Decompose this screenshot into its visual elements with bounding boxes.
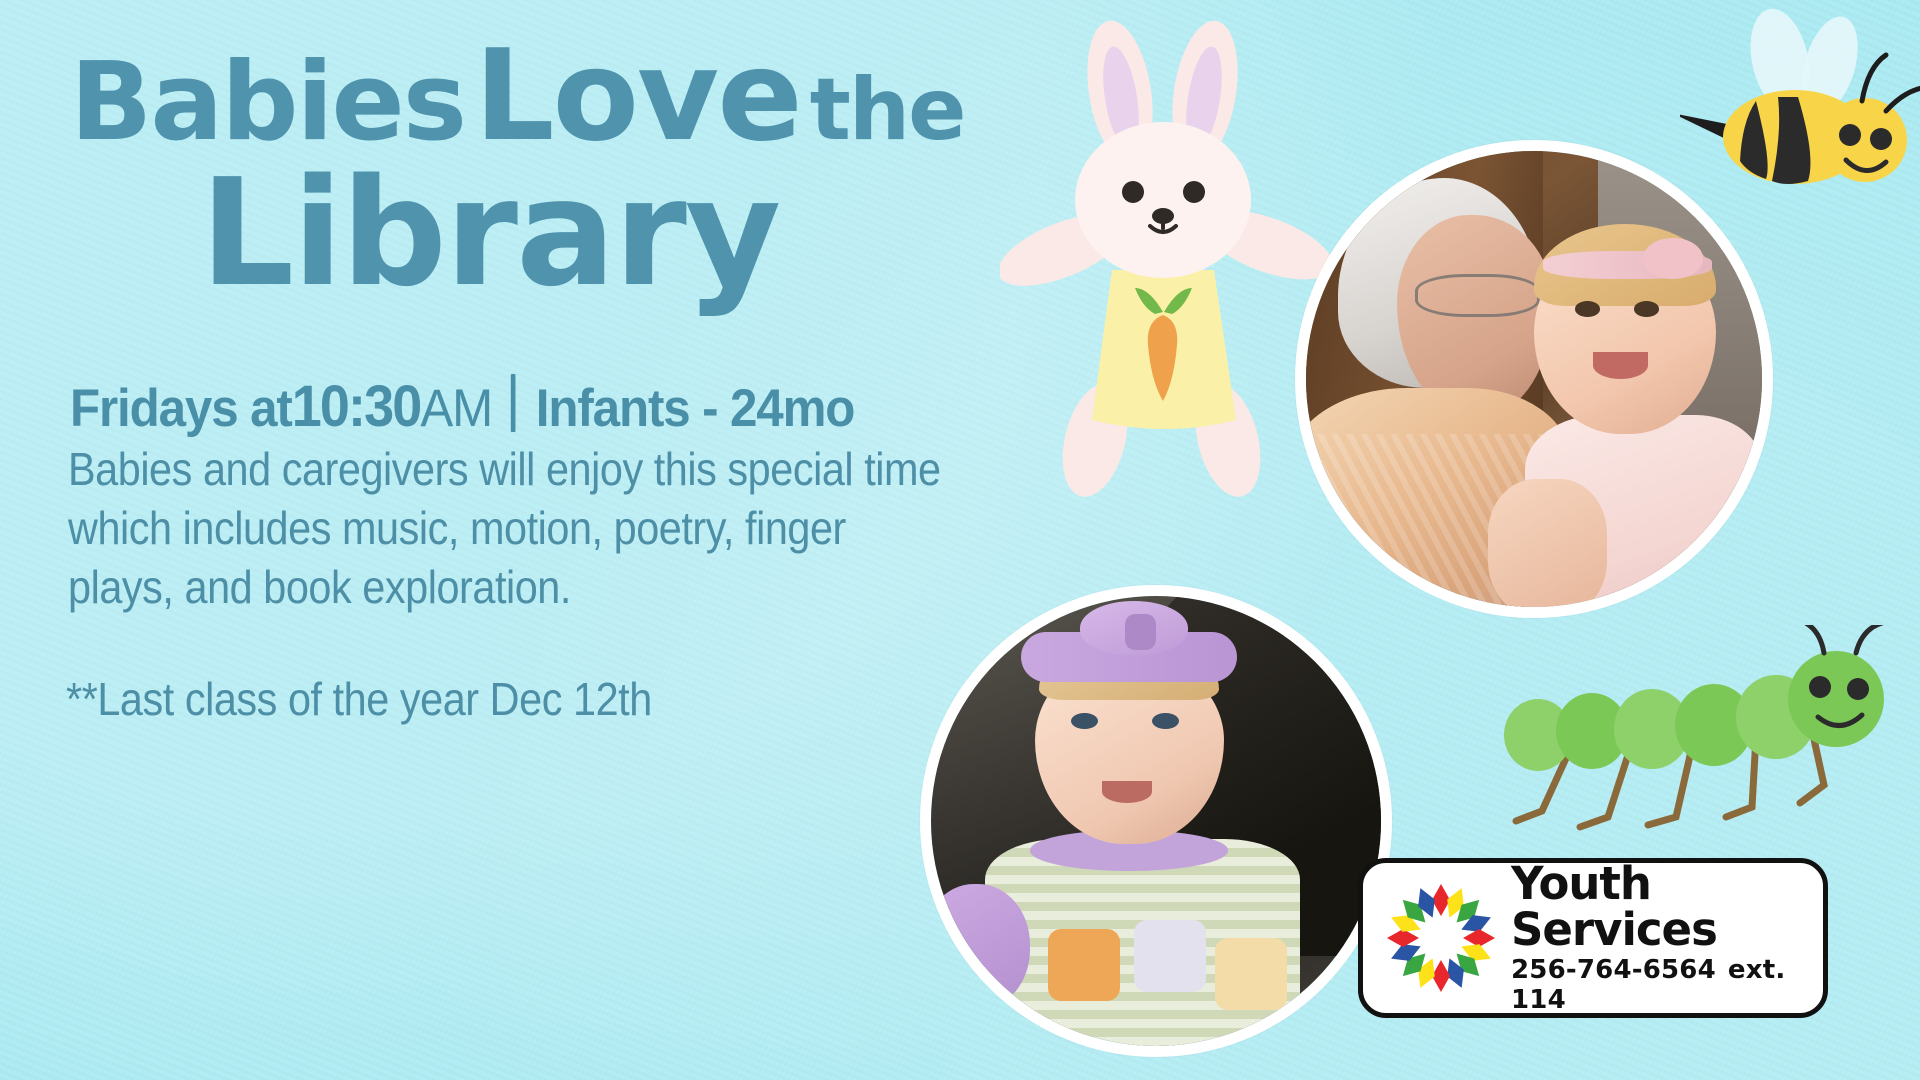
badge-contact: 256-764-6564ext. 114	[1511, 955, 1805, 1015]
badge-text: Youth Services 256-764-6564ext. 114	[1511, 861, 1805, 1016]
youth-services-badge[interactable]: Youth Services 256-764-6564ext. 114	[1358, 858, 1828, 1018]
poster-canvas: Babies Love the Library Fridays at 10:30…	[0, 0, 1920, 1080]
description-line-3: plays, and book exploration.	[68, 558, 1013, 617]
photo-baby-in-halloween-outfit	[920, 585, 1392, 1057]
caterpillar-icon	[1480, 625, 1900, 845]
photo-content	[1306, 151, 1762, 607]
baby-eye-left	[1071, 713, 1098, 729]
photo-content	[931, 596, 1381, 1046]
description-line-1: Babies and caregivers will enjoy this sp…	[68, 440, 1013, 499]
bunny-icon	[1000, 20, 1330, 500]
grandmother-glasses	[1415, 274, 1540, 316]
title-word-the: the	[810, 60, 965, 160]
pinwheel-logo-icon	[1381, 878, 1501, 998]
schedule-day: Fridays at	[70, 378, 292, 439]
baby-mouth	[1593, 352, 1648, 379]
badge-title: Youth Services	[1511, 861, 1805, 953]
schedule-separator	[511, 374, 516, 432]
baby-eye-right	[1152, 713, 1179, 729]
page-title-line-1: Babies Love the	[70, 38, 964, 154]
baby-mouth	[1102, 781, 1152, 804]
baby-headband-knot	[1125, 614, 1157, 650]
photo-grandmother-with-baby	[1295, 140, 1773, 618]
baby-arm	[1488, 479, 1607, 616]
baby-headband-bow	[1643, 238, 1702, 279]
schedule-meridiem: AM	[420, 378, 492, 439]
badge-phone-number: 256-764-6564	[1511, 955, 1716, 985]
bee-icon	[1680, 5, 1920, 205]
schedule-line: Fridays at 10:30 AM Infants - 24mo	[70, 368, 854, 440]
schedule-age-range: Infants - 24mo	[536, 378, 855, 439]
description-line-2: which includes music, motion, poetry, fi…	[68, 499, 1013, 558]
page-title-line-2: Library	[200, 165, 779, 301]
title-word-library: Library	[200, 147, 779, 319]
baby-eye-left	[1575, 301, 1600, 317]
description-paragraph: Babies and caregivers will enjoy this sp…	[68, 440, 1013, 617]
shirt-ghost-applique	[1134, 920, 1206, 992]
last-class-note: **Last class of the year Dec 12th	[66, 672, 652, 726]
baby-sleeve	[922, 884, 1030, 1010]
shirt-pumpkin-applique	[1048, 929, 1120, 1001]
shirt-candy-applique	[1215, 938, 1287, 1010]
schedule-time: 10:30	[292, 373, 421, 440]
